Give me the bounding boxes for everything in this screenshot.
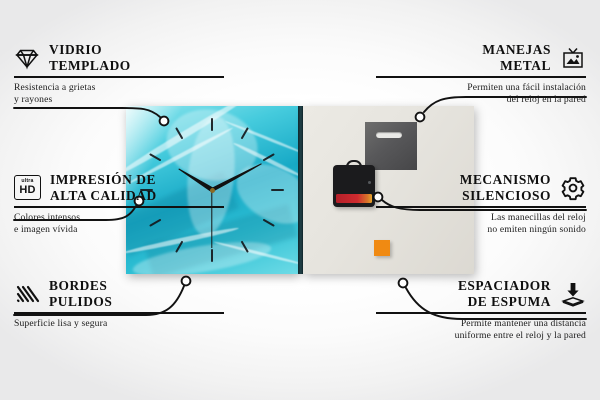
feature-manejas-metal: MANEJAS METAL Permiten una fácil instala… bbox=[376, 42, 586, 107]
feature-title: BORDES PULIDOS bbox=[49, 278, 112, 309]
feature-bordes-pulidos: BORDES PULIDOS Superficie lisa y segura bbox=[14, 278, 224, 330]
feature-description: Permiten una fácil instalación del reloj… bbox=[376, 82, 586, 107]
clock-mechanism bbox=[333, 165, 375, 207]
diamond-icon bbox=[14, 45, 40, 71]
clock-tick bbox=[271, 189, 284, 191]
feature-vidrio-templado: VIDRIO TEMPLADO Resistencia a grietas y … bbox=[14, 42, 224, 107]
feature-header: BORDES PULIDOS bbox=[14, 278, 224, 309]
feature-description: Las manecillas del reloj no emiten ningú… bbox=[376, 212, 586, 237]
hanger-slot bbox=[376, 132, 402, 138]
feature-header: MANEJAS METAL bbox=[376, 42, 586, 73]
polished-edges-icon bbox=[14, 281, 40, 307]
feature-title: MANEJAS METAL bbox=[482, 42, 551, 73]
feature-espaciador-espuma: ESPACIADOR DE ESPUMA Permite mantener un… bbox=[376, 278, 586, 343]
feature-impresion-alta-calidad: ultra HD IMPRESIÓN DE ALTA CALIDAD Color… bbox=[14, 172, 224, 237]
feature-header: ultra HD IMPRESIÓN DE ALTA CALIDAD bbox=[14, 172, 224, 203]
infographic-stage: VIDRIO TEMPLADO Resistencia a grietas y … bbox=[0, 0, 600, 400]
feature-header: ESPACIADOR DE ESPUMA bbox=[376, 278, 586, 309]
foam-spacer bbox=[374, 240, 390, 256]
feature-header: MECANISMO SILENCIOSO bbox=[376, 172, 586, 203]
wall-frame-icon bbox=[560, 45, 586, 71]
ultra-hd-icon: ultra HD bbox=[14, 175, 41, 200]
feature-title: VIDRIO TEMPLADO bbox=[49, 42, 131, 73]
feature-divider bbox=[376, 206, 586, 208]
feature-title: IMPRESIÓN DE ALTA CALIDAD bbox=[50, 172, 157, 203]
feature-title: ESPACIADOR DE ESPUMA bbox=[458, 278, 551, 309]
feature-divider bbox=[14, 312, 224, 314]
foam-spacer-icon bbox=[560, 281, 586, 307]
gear-icon bbox=[560, 175, 586, 201]
battery bbox=[336, 194, 372, 203]
feature-divider bbox=[14, 76, 224, 78]
mechanism-loop bbox=[346, 160, 362, 168]
clock-tick bbox=[211, 118, 213, 131]
clock-center-pin bbox=[210, 188, 215, 193]
metal-hanger-plate bbox=[365, 122, 417, 170]
feature-title: MECANISMO SILENCIOSO bbox=[460, 172, 551, 203]
feature-description: Permite mantener una distancia uniforme … bbox=[376, 318, 586, 343]
feature-header: VIDRIO TEMPLADO bbox=[14, 42, 224, 73]
feature-description: Superficie lisa y segura bbox=[14, 318, 224, 331]
feature-mecanismo-silencioso: MECANISMO SILENCIOSO Las manecillas del … bbox=[376, 172, 586, 237]
feature-divider bbox=[376, 312, 586, 314]
mechanism-dial bbox=[368, 181, 371, 184]
feature-divider bbox=[14, 206, 224, 208]
clock-tick bbox=[211, 249, 213, 262]
feature-description: Colores intensos e imagen vívida bbox=[14, 212, 224, 237]
feature-divider bbox=[376, 76, 586, 78]
feature-description: Resistencia a grietas y rayones bbox=[14, 82, 224, 107]
